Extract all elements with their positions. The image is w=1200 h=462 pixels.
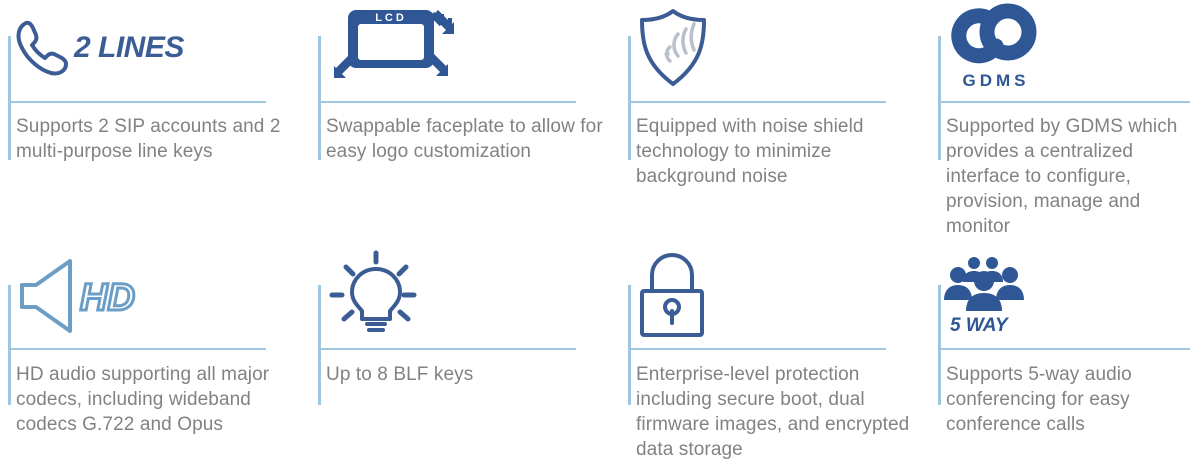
divider-vertical (628, 36, 631, 160)
people-group-icon (944, 255, 1028, 317)
feature-card-security: Enterprise-level protection including se… (620, 240, 930, 462)
feature-card-two-lines: 2 LINES Supports 2 SIP accounts and 2 mu… (0, 0, 310, 240)
lcd-faceplate-icon: LCD (324, 4, 454, 92)
divider-horizontal (8, 348, 266, 350)
feature-description: Supports 2 SIP accounts and 2 multi-purp… (16, 114, 296, 164)
feature-card-swappable-faceplate: LCD (310, 0, 620, 240)
icon-area: 2 LINES (14, 0, 184, 96)
divider-vertical (318, 36, 321, 160)
icon-area (634, 0, 712, 96)
feature-card-five-way-conference: 5 WAY Supports 5-way audio conferencing … (930, 240, 1200, 462)
divider-horizontal (938, 348, 1190, 350)
icon-label-two-lines: 2 LINES (74, 31, 184, 65)
feature-card-hd-audio: HD HD audio supporting all major codecs,… (0, 240, 310, 462)
divider-vertical (628, 285, 631, 405)
feature-card-gdms: GDMS Supported by GDMS which provides a … (930, 0, 1200, 240)
divider-vertical (938, 36, 941, 160)
divider-horizontal (628, 101, 886, 103)
divider-vertical (318, 285, 321, 405)
shield-noise-icon (634, 6, 712, 90)
icon-label-five-way: 5 WAY (950, 315, 1008, 337)
padlock-icon (634, 253, 710, 339)
icon-area (634, 248, 710, 344)
divider-vertical (8, 36, 11, 160)
lightbulb-icon (324, 251, 428, 341)
feature-card-noise-shield: Equipped with noise shield technology to… (620, 0, 930, 240)
icon-area: HD (14, 248, 134, 344)
feature-description: Supported by GDMS which provides a centr… (946, 114, 1192, 239)
feature-description: Equipped with noise shield technology to… (636, 114, 916, 189)
icon-label-gdms: GDMS (963, 71, 1030, 91)
feature-description: HD audio supporting all major codecs, in… (16, 362, 296, 437)
icon-area (324, 248, 428, 344)
feature-card-blf-keys: Up to 8 BLF keys (310, 240, 620, 462)
divider-horizontal (628, 348, 886, 350)
feature-description: Supports 5-way audio conferencing for ea… (946, 362, 1192, 437)
feature-description: Enterprise-level protection including se… (636, 362, 916, 462)
hd-speaker-icon: HD (14, 255, 134, 337)
icon-area: 5 WAY (944, 248, 1028, 344)
gdms-logo-icon (944, 6, 1048, 70)
divider-horizontal (8, 101, 266, 103)
phone-handset-icon (14, 17, 70, 79)
feature-description: Swappable faceplate to allow for easy lo… (326, 114, 606, 164)
svg-text:HD: HD (80, 277, 135, 319)
feature-grid: 2 LINES Supports 2 SIP accounts and 2 mu… (0, 0, 1200, 462)
icon-area: GDMS (944, 0, 1048, 96)
feature-description: Up to 8 BLF keys (326, 362, 606, 387)
divider-horizontal (938, 101, 1190, 103)
divider-horizontal (318, 348, 576, 350)
divider-horizontal (318, 101, 576, 103)
icon-area: LCD (324, 0, 454, 96)
divider-vertical (938, 285, 941, 405)
svg-text:LCD: LCD (375, 12, 407, 24)
divider-vertical (8, 285, 11, 405)
